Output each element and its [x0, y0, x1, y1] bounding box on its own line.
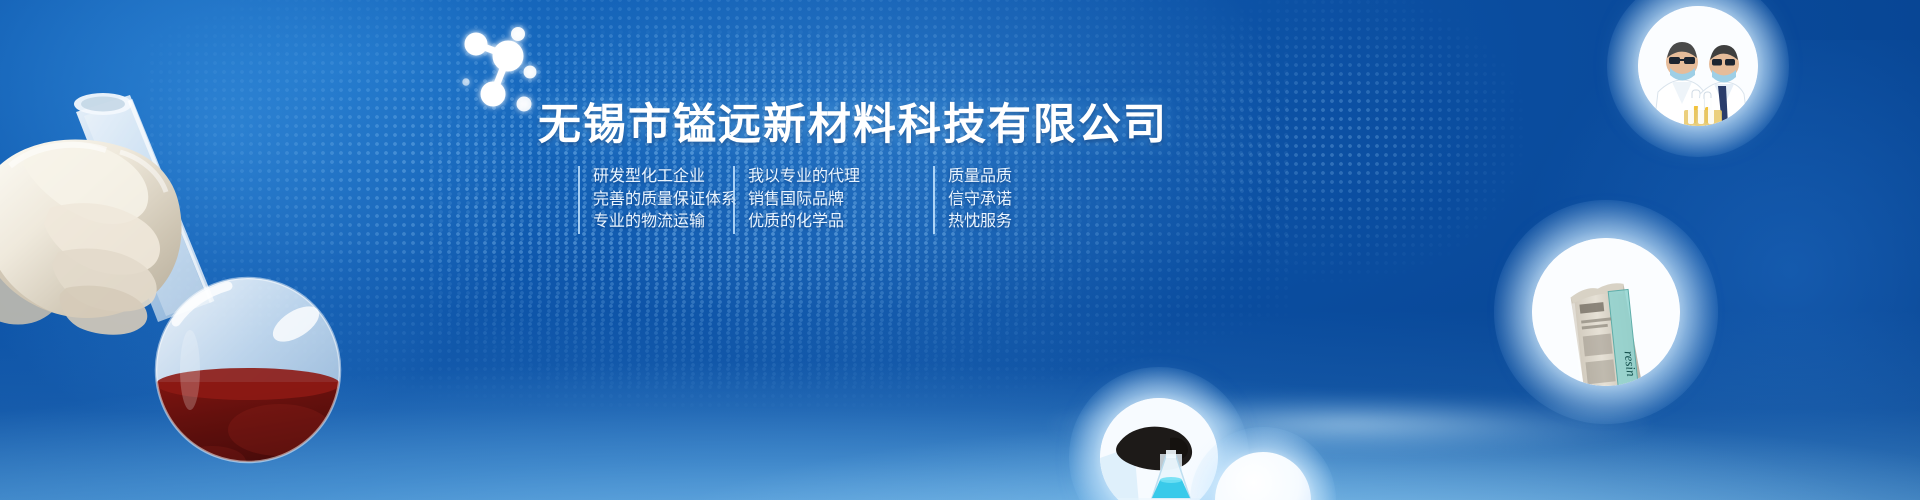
- feature-line: 研发型化工企业: [593, 166, 733, 189]
- dotted-world-map-icon: [1150, 0, 1570, 300]
- feature-line: 优质的化学品: [748, 211, 933, 234]
- feature-line: 完善的质量保证体系: [593, 189, 733, 212]
- feature-line: 销售国际品牌: [748, 189, 933, 212]
- company-hero-banner: 无锡市镒远新材料科技有限公司 研发型化工企业 完善的质量保证体系 专业的物流运输…: [0, 0, 1920, 500]
- feature-columns: 研发型化工企业 完善的质量保证体系 专业的物流运输 我以专业的代理 销售国际品牌…: [578, 166, 1053, 234]
- feature-line: 信守承诺: [948, 189, 1053, 212]
- scientists-photo: [1638, 6, 1758, 126]
- product-sack-photo-bubble: resin: [1532, 238, 1680, 386]
- feature-column-3: 质量品质 信守承诺 热忱服务: [933, 166, 1053, 234]
- feature-line: 我以专业的代理: [748, 166, 933, 189]
- feature-line: 专业的物流运输: [593, 211, 733, 234]
- flask-photo: [0, 70, 370, 500]
- svg-text:resin: resin: [1622, 350, 1640, 377]
- feature-column-1: 研发型化工企业 完善的质量保证体系 专业的物流运输: [578, 166, 733, 234]
- decorative-light-bubble: [1215, 452, 1311, 500]
- scientists-photo-bubble: [1638, 6, 1758, 126]
- feature-line: 热忱服务: [948, 211, 1053, 234]
- feature-column-2: 我以专业的代理 销售国际品牌 优质的化学品: [733, 166, 933, 234]
- page-title: 无锡市镒远新材料科技有限公司: [538, 90, 1168, 152]
- feature-line: 质量品质: [948, 166, 1053, 189]
- product-sack-photo: resin: [1532, 238, 1680, 386]
